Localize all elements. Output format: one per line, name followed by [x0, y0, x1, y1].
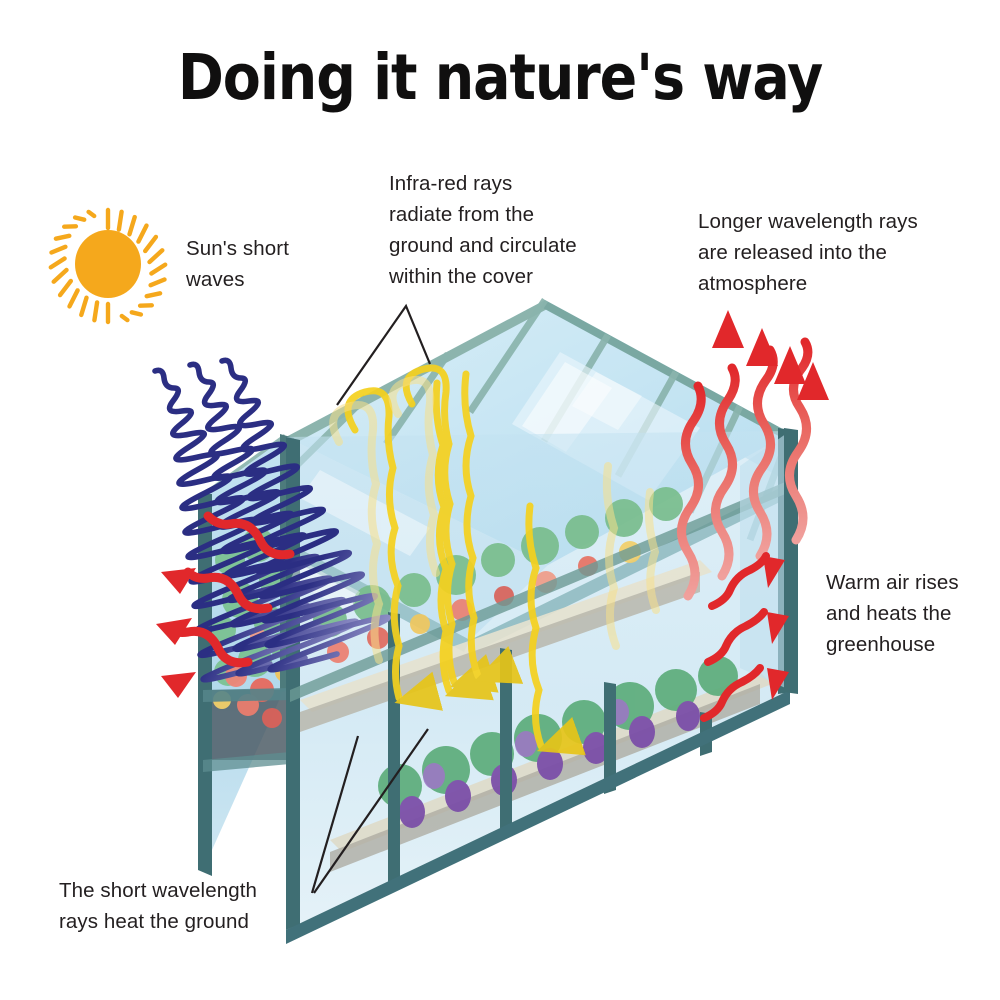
label-sun-short-waves: Sun's short waves [186, 233, 289, 295]
infrared-pointer-line [337, 306, 430, 405]
label-warm-air-rises: Warm air rises and heats the greenhouse [826, 567, 959, 660]
label-longer-wavelength: Longer wavelength rays are released into… [698, 206, 918, 299]
label-infrared-rays: Infra-red rays radiate from the ground a… [389, 168, 577, 292]
pointer-lines [0, 0, 1000, 1000]
ground-pointer-line-b [314, 729, 428, 893]
label-short-wavelength-ground: The short wavelength rays heat the groun… [59, 875, 257, 937]
ground-pointer-line-a [312, 736, 358, 893]
infographic-canvas: Doing it nature's way [0, 0, 1000, 1000]
